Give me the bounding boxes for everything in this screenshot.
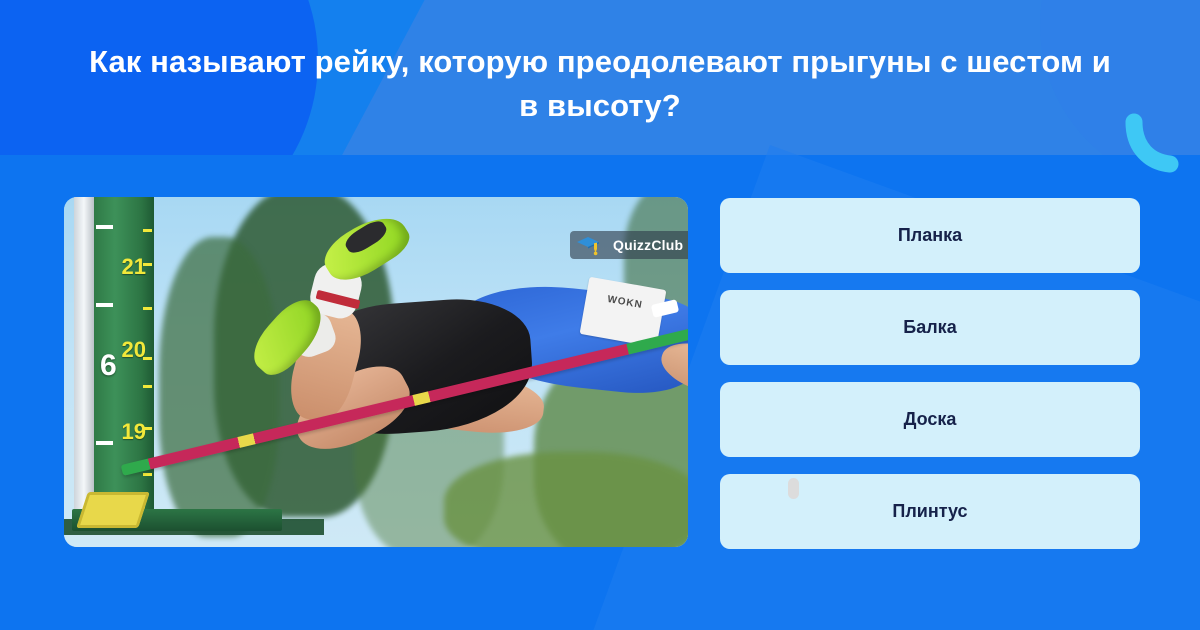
answer-options-list: Планка Балка Доска Плинтус	[720, 198, 1140, 566]
scroll-indicator[interactable]	[788, 478, 799, 499]
question-header: Как называют рейку, которую преодолевают…	[0, 0, 1200, 168]
bar-clamp	[76, 492, 150, 528]
quizzclub-logo-badge: QuizzClub	[570, 231, 688, 259]
standard-tick	[96, 441, 113, 445]
main-content: 21 20 6 19 18 WOKN	[0, 168, 1200, 630]
standard-tick	[143, 357, 152, 360]
standard-tick	[143, 263, 152, 266]
answer-option-label: Доска	[904, 409, 957, 430]
page-title: Как называют рейку, которую преодолевают…	[85, 40, 1115, 128]
measuring-standard: 21 20 6 19 18	[94, 197, 154, 525]
standard-number: 21	[122, 254, 146, 280]
standard-number: 19	[122, 419, 146, 445]
standard-back-post	[74, 197, 96, 527]
question-image: 21 20 6 19 18 WOKN	[64, 197, 688, 547]
answer-option-3[interactable]: Доска	[720, 382, 1140, 457]
graduation-cap-icon	[575, 234, 601, 256]
standard-tick	[96, 225, 113, 229]
standard-big-number: 6	[100, 349, 117, 383]
standard-tick	[143, 229, 152, 232]
answer-option-label: Планка	[898, 225, 962, 246]
standard-tick	[96, 303, 113, 307]
answer-option-1[interactable]: Планка	[720, 198, 1140, 273]
standard-tick	[143, 385, 152, 388]
answer-option-label: Плинтус	[892, 501, 967, 522]
standard-tick	[143, 307, 152, 310]
quizzclub-logo-text: QuizzClub	[613, 237, 683, 253]
standard-tick	[143, 473, 152, 476]
tree-shape	[444, 452, 688, 547]
tree-shape	[159, 237, 279, 537]
answer-option-2[interactable]: Балка	[720, 290, 1140, 365]
answer-option-4[interactable]: Плинтус	[720, 474, 1140, 549]
answer-option-label: Балка	[903, 317, 956, 338]
standard-tick	[143, 427, 152, 430]
